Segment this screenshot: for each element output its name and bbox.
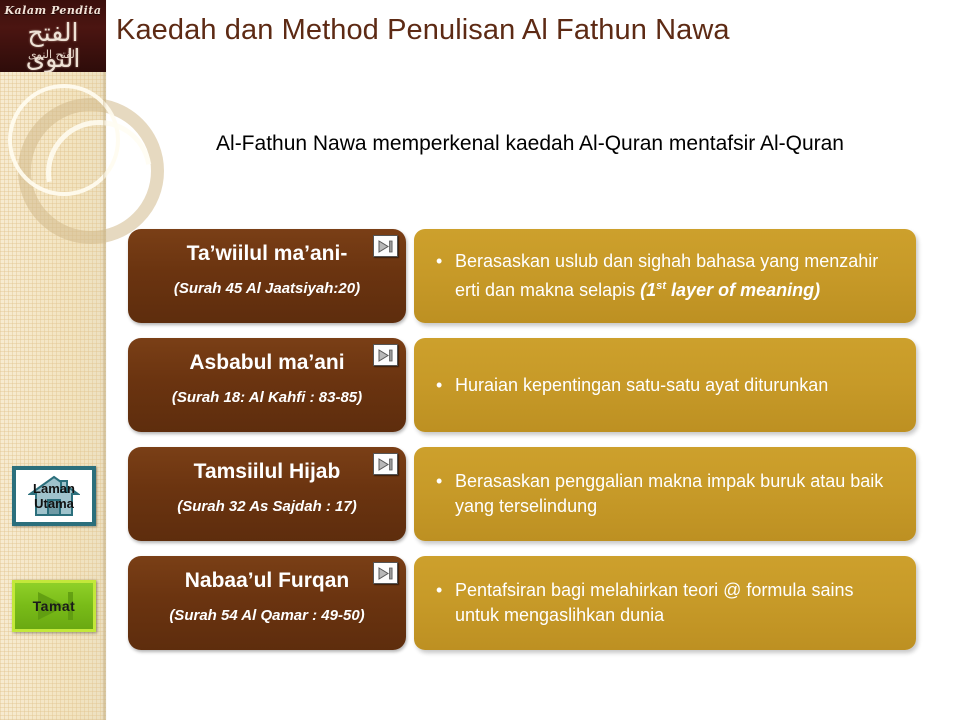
term-box[interactable]: Tamsiilul Hijab (Surah 32 As Sajdah : 17… [128,447,406,541]
diagram-row: Tamsiilul Hijab (Surah 32 As Sajdah : 17… [0,447,960,541]
skip-to-end-icon[interactable] [373,453,398,475]
term-reference: (Surah 54 Al Qamar : 49-50) [142,605,392,627]
skip-to-end-icon[interactable] [373,235,398,257]
term-name: Nabaa’ul Furqan [142,567,392,594]
detail-text: Huraian kepentingan satu-satu ayat ditur… [436,373,828,398]
term-reference: (Surah 45 Al Jaatsiyah:20) [142,278,392,300]
term-name: Tamsiilul Hijab [142,458,392,485]
detail-box[interactable]: Pentafsiran bagi melahirkan teori @ form… [414,556,916,650]
term-reference: (Surah 32 As Sajdah : 17) [142,496,392,518]
detail-box[interactable]: Huraian kepentingan satu-satu ayat ditur… [414,338,916,432]
detail-text: Berasaskan penggalian makna impak buruk … [436,469,898,519]
detail-plain: Berasaskan penggalian makna impak buruk … [455,471,883,516]
term-box[interactable]: Ta’wiilul ma’ani- (Surah 45 Al Jaatsiyah… [128,229,406,323]
slide-canvas: Kalam Pendita الفتح النوى الفتح النوى La… [0,0,960,720]
diagram: Ta’wiilul ma’ani- (Surah 45 Al Jaatsiyah… [0,0,960,720]
detail-plain: Pentafsiran bagi melahirkan teori @ form… [455,580,853,625]
detail-plain: Huraian kepentingan satu-satu ayat ditur… [455,375,828,395]
diagram-row: Nabaa’ul Furqan (Surah 54 Al Qamar : 49-… [0,556,960,650]
detail-text: Berasaskan uslub dan sighah bahasa yang … [436,249,898,303]
detail-text: Pentafsiran bagi melahirkan teori @ form… [436,578,898,628]
term-reference: (Surah 18: Al Kahfi : 83-85) [142,387,392,409]
term-name: Asbabul ma’ani [142,349,392,376]
diagram-row: Ta’wiilul ma’ani- (Surah 45 Al Jaatsiyah… [0,229,960,323]
detail-emphasis: (1st layer of meaning) [640,280,820,300]
detail-emph-pre: (1 [640,280,656,300]
term-box[interactable]: Nabaa’ul Furqan (Surah 54 Al Qamar : 49-… [128,556,406,650]
diagram-row: Asbabul ma’ani (Surah 18: Al Kahfi : 83-… [0,338,960,432]
term-name: Ta’wiilul ma’ani- [142,240,392,267]
skip-to-end-icon[interactable] [373,562,398,584]
detail-box[interactable]: Berasaskan uslub dan sighah bahasa yang … [414,229,916,323]
term-box[interactable]: Asbabul ma’ani (Surah 18: Al Kahfi : 83-… [128,338,406,432]
detail-emph-sup: st [656,280,666,292]
detail-emph-post: layer of meaning) [666,280,820,300]
skip-to-end-icon[interactable] [373,344,398,366]
detail-box[interactable]: Berasaskan penggalian makna impak buruk … [414,447,916,541]
